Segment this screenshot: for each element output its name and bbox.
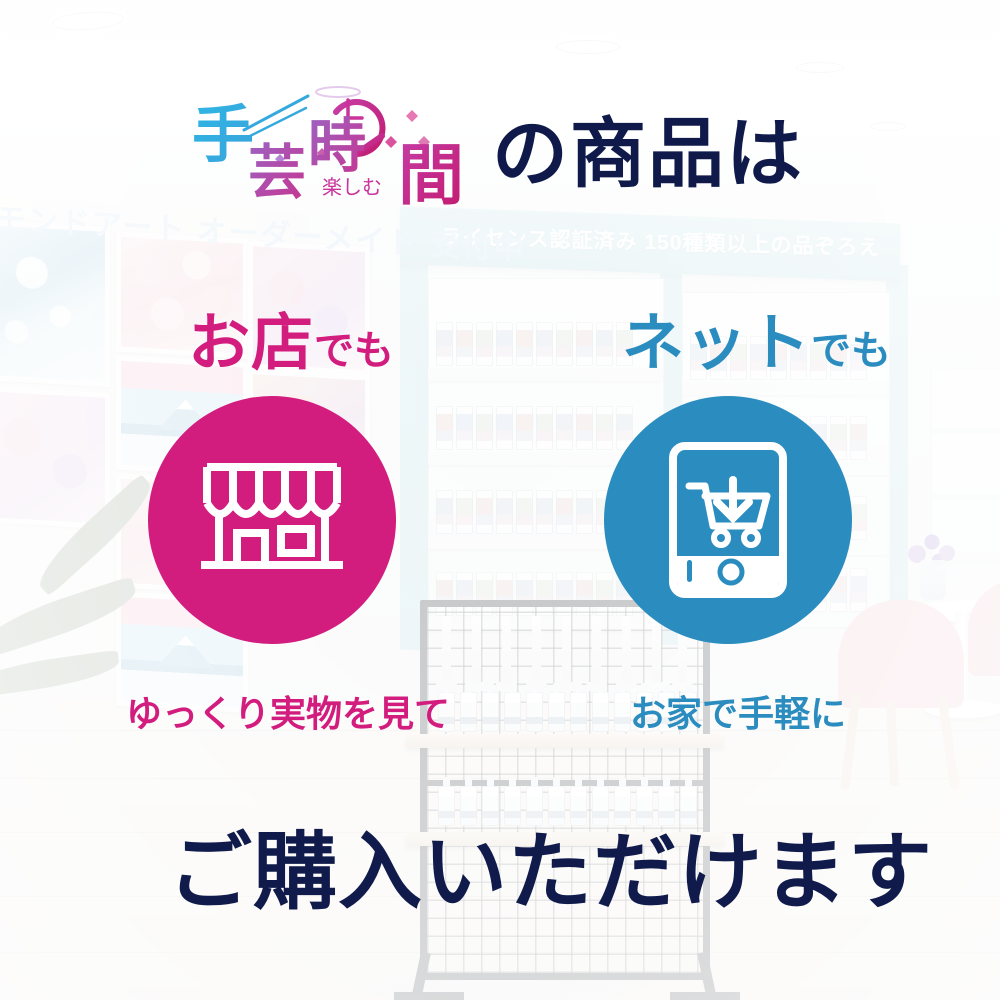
net-label-main: ネット [622,306,811,379]
logo-subtitle: 楽しむ [322,175,382,199]
brand-logo: 手 芸 時 間 楽しむ [186,74,486,204]
store-label-main: お店 [188,306,314,379]
brand-logo-art: 手 芸 時 間 楽しむ [186,74,486,206]
storefront-icon [197,457,347,583]
promo-banner: ライセンス認証済み 150種類以上の品ぞろえ モンドアート オーダーメイド 受付… [0,0,1000,1000]
smartphone-cart-icon-circle[interactable] [604,396,852,644]
net-caption: お家で手軽に [630,685,846,737]
svg-text:間: 間 [398,136,464,206]
svg-text:芸: 芸 [248,138,306,206]
store-caption: ゆっくり実物を見て [126,685,450,737]
overlay-content: 手 芸 時 間 楽しむ の商品は お店でも [0,0,1000,1000]
net-label: ネットでも [622,292,891,382]
storefront-icon-circle[interactable] [148,396,396,644]
svg-text:時: 時 [308,112,366,180]
svg-text:手: 手 [192,98,254,171]
store-label: お店でも [188,292,394,382]
smartphone-cart-icon [667,440,789,600]
net-label-suffix: でも [811,328,891,374]
page-title: の商品は [492,92,804,202]
footer-text: ご購入いただけます [168,805,933,926]
store-label-suffix: でも [314,328,394,374]
